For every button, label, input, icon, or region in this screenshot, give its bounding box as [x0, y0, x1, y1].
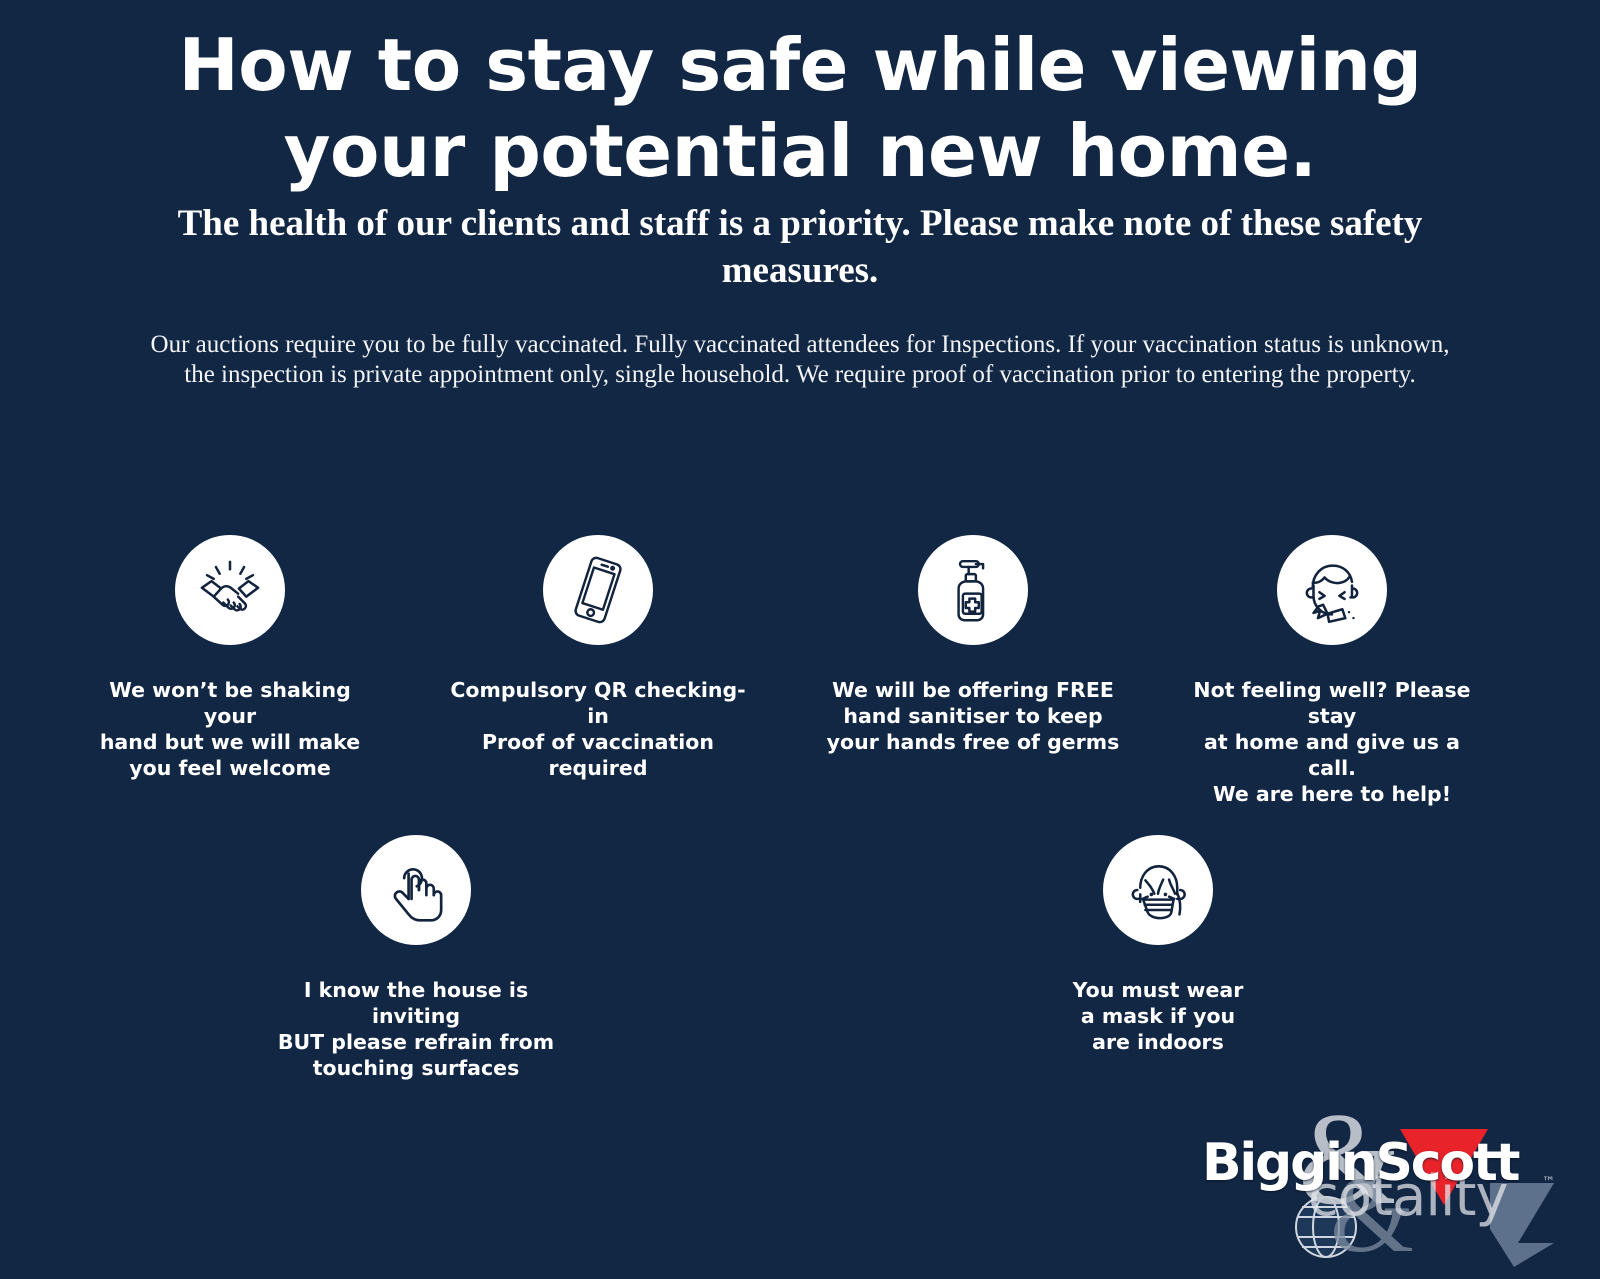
smartphone-qr-icon — [562, 554, 634, 626]
safety-tile-hand-sanitiser: We will be offering FREE hand sanitiser … — [823, 535, 1123, 755]
masked-face-icon — [1121, 853, 1195, 927]
safety-tile-wear-mask: You must wear a mask if you are indoors — [1008, 835, 1308, 1055]
icon-badge — [175, 535, 285, 645]
safety-tile-unwell: Not feeling well? Please stay at home an… — [1182, 535, 1482, 807]
vaccination-notice-paragraph: Our auctions require you to be fully vac… — [140, 330, 1460, 390]
tile-caption: Not feeling well? Please stay at home an… — [1182, 677, 1482, 807]
logo-lockup: & & cotality ™ BigginScott — [1190, 1105, 1580, 1270]
tile-caption: Compulsory QR checking-in Proof of vacci… — [448, 677, 748, 781]
biggin-scott-wordmark: BigginScott — [1202, 1135, 1518, 1191]
tile-caption: We won’t be shaking your hand but we wil… — [80, 677, 380, 781]
handshake-icon — [193, 553, 267, 627]
pointing-hand-touch-icon — [379, 853, 453, 927]
tile-caption: You must wear a mask if you are indoors — [1008, 977, 1308, 1055]
icon-badge — [361, 835, 471, 945]
sneezing-face-icon — [1295, 553, 1369, 627]
safety-tile-no-touching: I know the house is inviting BUT please … — [266, 835, 566, 1081]
page-subtitle: The health of our clients and staff is a… — [130, 200, 1470, 294]
hand-sanitiser-bottle-icon — [937, 554, 1009, 626]
icon-badge — [1103, 835, 1213, 945]
tile-caption: We will be offering FREE hand sanitiser … — [823, 677, 1123, 755]
tile-caption: I know the house is inviting BUT please … — [266, 977, 566, 1081]
safety-tile-handshake: We won’t be shaking your hand but we wil… — [80, 535, 380, 781]
trademark-symbol: ™ — [1542, 1175, 1555, 1190]
poster-canvas: How to stay safe while viewing your pote… — [0, 0, 1600, 1279]
header-block: How to stay safe while viewing your pote… — [0, 0, 1600, 390]
icon-badge — [918, 535, 1028, 645]
icon-badge — [1277, 535, 1387, 645]
safety-tile-qr-checkin: Compulsory QR checking-in Proof of vacci… — [448, 535, 748, 781]
page-title: How to stay safe while viewing your pote… — [140, 0, 1460, 194]
icon-badge — [543, 535, 653, 645]
